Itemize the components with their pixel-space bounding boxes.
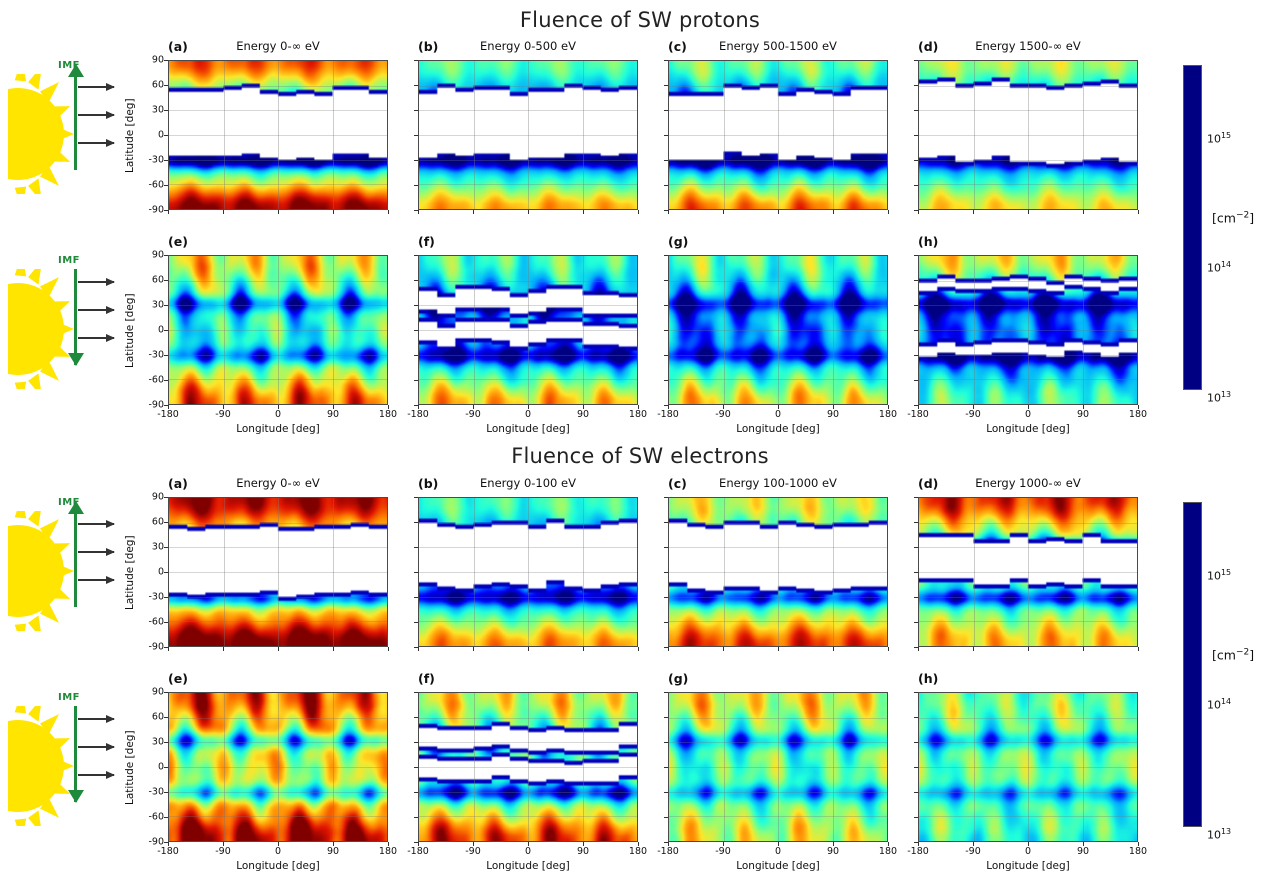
panel-title: Energy 0-500 eV [418,39,638,53]
axis-label-longitude: Longitude [deg] [668,423,888,435]
y-tick-mark [164,255,168,256]
y-tick-label: 30 [152,300,164,311]
gridline-horizontal [419,135,637,136]
plot-area [418,692,638,842]
y-tick-label: -60 [148,812,164,823]
x-tick-mark [668,210,669,214]
solar-wind-arrow-0 [78,523,114,525]
gridline-horizontal [919,330,1137,331]
y-tick-mark [664,817,668,818]
imf-arrow-up-icon [68,501,84,514]
y-tick-mark [414,185,418,186]
x-tick-label: -90 [715,846,731,857]
gridline-horizontal [169,160,387,161]
y-tick-mark [664,60,668,61]
gridline-horizontal [669,718,887,719]
solar-wind-arrow-0 [78,86,114,88]
x-tick-label: 0 [1025,846,1031,857]
x-tick-mark [973,210,974,214]
gridline-horizontal [669,110,887,111]
panel-electrons-g: (g)-180-90090180Longitude [deg] [668,692,888,842]
y-tick-mark [914,85,918,86]
y-tick-label: -60 [148,180,164,191]
axis-label-latitude: Latitude [deg] [124,730,136,805]
x-tick-label: 0 [275,409,281,420]
sun-imf-diagram-protons-row0: IMF [0,52,140,217]
y-tick-label: 30 [152,737,164,748]
imf-field-line [74,511,77,607]
y-tick-mark [414,767,418,768]
gridline-horizontal [919,718,1137,719]
gridline-horizontal [169,523,387,524]
gridline-horizontal [919,184,1137,185]
panel-tag: (g) [668,671,688,686]
y-tick-mark [414,717,418,718]
gridline-horizontal [669,742,887,743]
y-tick-mark [664,717,668,718]
y-tick-mark [914,717,918,718]
x-tick-mark [668,647,669,651]
y-tick-label: 90 [152,250,164,261]
x-tick-mark [1028,210,1029,214]
y-tick-mark [164,185,168,186]
panel-electrons-e: (e)9060300-30-60-90Latitude [deg]-180-90… [168,692,388,842]
solar-wind-arrow-1 [78,114,114,116]
y-tick-mark [414,547,418,548]
gridline-horizontal [419,281,637,282]
x-tick-mark [973,647,974,651]
gridline-horizontal [919,523,1137,524]
y-tick-mark [914,160,918,161]
gridline-horizontal [669,305,887,306]
y-tick-mark [164,522,168,523]
plot-area [418,255,638,405]
gridline-horizontal [419,742,637,743]
x-tick-label: 0 [775,409,781,420]
axis-label-latitude: Latitude [deg] [124,293,136,368]
gridline-horizontal [169,379,387,380]
y-tick-mark [664,280,668,281]
x-tick-label: 90 [1077,846,1089,857]
solar-wind-arrow-1 [78,309,114,311]
plot-area [918,255,1138,405]
y-tick-label: 60 [152,712,164,723]
x-tick-mark [333,647,334,651]
x-tick-label: 0 [525,409,531,420]
gridline-horizontal [169,597,387,598]
gridline-horizontal [669,572,887,573]
panel-tag: (g) [668,234,688,249]
gridline-horizontal [669,597,887,598]
x-tick-mark [888,647,889,651]
x-tick-mark [833,210,834,214]
solar-wind-arrow-0 [78,281,114,283]
plot-area [168,497,388,647]
panel-title: Energy 0-∞ eV [168,39,388,53]
plot-area [918,497,1138,647]
plot-area [168,255,388,405]
x-tick-mark [528,210,529,214]
x-tick-label: -180 [407,409,429,420]
imf-arrow-down-icon [68,353,84,366]
y-tick-mark [914,767,918,768]
x-tick-label: 90 [1077,409,1089,420]
x-tick-mark [1083,210,1084,214]
x-tick-mark [223,210,224,214]
gridline-horizontal [169,718,387,719]
y-tick-label: 30 [152,542,164,553]
y-tick-mark [164,330,168,331]
y-tick-label: 90 [152,55,164,66]
x-tick-label: 180 [1129,409,1147,420]
x-tick-label: 180 [379,409,397,420]
gridline-horizontal [669,816,887,817]
plot-area [168,60,388,210]
x-tick-mark [528,647,529,651]
y-tick-mark [914,255,918,256]
y-tick-mark [664,85,668,86]
y-tick-mark [914,547,918,548]
y-tick-mark [164,547,168,548]
gridline-horizontal [169,742,387,743]
gridline-horizontal [419,547,637,548]
plot-area [668,255,888,405]
panel-protons-f: (f)-180-90090180Longitude [deg] [418,255,638,405]
gridline-horizontal [419,816,637,817]
x-tick-mark [888,210,889,214]
y-tick-mark [914,692,918,693]
y-tick-mark [414,522,418,523]
y-tick-mark [664,497,668,498]
x-tick-mark [583,210,584,214]
panel-title: Energy 500-1500 eV [668,39,888,53]
panel-title: Energy 100-1000 eV [668,476,888,490]
y-tick-mark [664,355,668,356]
panel-protons-e: (e)9060300-30-60-90Latitude [deg]-180-90… [168,255,388,405]
gridline-horizontal [919,135,1137,136]
y-tick-label: 60 [152,80,164,91]
y-tick-label: -30 [148,350,164,361]
x-tick-mark [473,647,474,651]
x-tick-mark [388,210,389,214]
gridline-horizontal [919,281,1137,282]
y-tick-mark [164,160,168,161]
plot-area [418,60,638,210]
x-tick-label: 0 [275,846,281,857]
panel-protons-d: (d)Energy 1500-∞ eV [918,60,1138,210]
y-tick-mark [914,355,918,356]
sun-imf-diagram-protons-row1: IMF [0,247,140,412]
x-tick-mark [638,647,639,651]
x-tick-label: 0 [525,846,531,857]
y-tick-mark [164,692,168,693]
gridline-horizontal [919,572,1137,573]
imf-field-line [74,706,77,802]
y-tick-mark [164,355,168,356]
y-tick-mark [164,767,168,768]
x-tick-mark [333,210,334,214]
x-tick-label: -180 [657,846,679,857]
x-tick-mark [1138,647,1139,651]
x-tick-label: -180 [157,846,179,857]
y-tick-mark [164,380,168,381]
x-tick-mark [278,210,279,214]
figure-root: Fluence of SW protons Fluence of SW elec… [0,0,1280,874]
gridline-horizontal [169,281,387,282]
panel-title: Energy 0-100 eV [418,476,638,490]
gridline-horizontal [169,330,387,331]
panel-electrons-a: (a)Energy 0-∞ eV9060300-30-60-90Latitude… [168,497,388,647]
y-tick-label: -90 [148,205,164,216]
x-tick-mark [723,210,724,214]
x-tick-label: 90 [577,409,589,420]
panel-tag: (e) [168,234,188,249]
solar-wind-arrow-2 [78,774,114,776]
gridline-horizontal [669,547,887,548]
x-tick-mark [833,647,834,651]
gridline-horizontal [919,792,1137,793]
y-tick-mark [664,622,668,623]
plot-area [668,60,888,210]
panel-electrons-c: (c)Energy 100-1000 eV [668,497,888,647]
y-tick-mark [664,185,668,186]
y-tick-label: -60 [148,375,164,386]
gridline-horizontal [419,792,637,793]
x-tick-label: 180 [629,409,647,420]
panel-tag: (e) [168,671,188,686]
x-tick-mark [168,210,169,214]
gridline-horizontal [419,718,637,719]
x-tick-label: 90 [827,409,839,420]
y-tick-mark [664,255,668,256]
y-tick-label: -30 [148,787,164,798]
gridline-horizontal [419,572,637,573]
gridline-horizontal [669,281,887,282]
gridline-horizontal [419,597,637,598]
x-tick-label: -180 [657,409,679,420]
y-tick-mark [414,622,418,623]
x-tick-label: -90 [715,409,731,420]
axis-label-longitude: Longitude [deg] [418,860,638,872]
gridline-horizontal [169,816,387,817]
x-tick-mark [918,647,919,651]
gridline-horizontal [169,86,387,87]
imf-arrow-up-icon [68,64,84,77]
y-tick-mark [164,135,168,136]
y-tick-mark [414,355,418,356]
y-tick-mark [914,135,918,136]
gridline-horizontal [669,184,887,185]
solar-wind-arrow-0 [78,718,114,720]
imf-field-line [74,74,77,170]
y-tick-mark [914,280,918,281]
gridline-horizontal [669,355,887,356]
x-tick-mark [418,210,419,214]
gridline-horizontal [669,160,887,161]
x-tick-label: 90 [327,409,339,420]
panel-tag: (h) [918,671,938,686]
sun-imf-diagram-electrons-row0: IMF [0,489,140,654]
gridline-horizontal [419,110,637,111]
panel-protons-c: (c)Energy 500-1500 eV [668,60,888,210]
solar-wind-arrow-2 [78,337,114,339]
gridline-horizontal [419,621,637,622]
y-tick-mark [164,305,168,306]
y-tick-mark [664,792,668,793]
x-tick-label: 180 [879,846,897,857]
y-tick-mark [914,185,918,186]
y-tick-mark [414,255,418,256]
axis-label-latitude: Latitude [deg] [124,535,136,610]
y-tick-mark [414,305,418,306]
x-tick-mark [223,647,224,651]
x-tick-mark [638,210,639,214]
y-tick-mark [664,522,668,523]
x-tick-label: 90 [577,846,589,857]
y-tick-mark [414,692,418,693]
x-tick-label: 180 [379,846,397,857]
x-tick-mark [778,647,779,651]
y-tick-mark [664,305,668,306]
y-tick-mark [664,380,668,381]
solar-wind-arrow-2 [78,579,114,581]
x-tick-label: -90 [465,846,481,857]
panel-protons-h: (h)-180-90090180Longitude [deg] [918,255,1138,405]
y-tick-mark [914,622,918,623]
y-tick-mark [664,547,668,548]
plot-area [668,692,888,842]
y-tick-mark [164,792,168,793]
x-tick-mark [168,647,169,651]
gridline-horizontal [169,621,387,622]
gridline-horizontal [169,547,387,548]
colorbar-unit-label: [cm−2] [1212,210,1254,225]
x-tick-label: -90 [965,409,981,420]
gridline-horizontal [919,305,1137,306]
x-tick-mark [418,647,419,651]
gridline-horizontal [919,816,1137,817]
x-tick-label: 180 [879,409,897,420]
x-tick-label: -90 [215,846,231,857]
y-tick-mark [414,280,418,281]
gridline-horizontal [919,110,1137,111]
y-tick-mark [164,85,168,86]
panel-tag: (f) [418,671,435,686]
gridline-horizontal [419,184,637,185]
y-tick-mark [414,330,418,331]
gridline-horizontal [919,597,1137,598]
sun-icon [8,706,104,826]
gridline-horizontal [169,572,387,573]
gridline-horizontal [919,742,1137,743]
y-tick-mark [914,380,918,381]
gridline-horizontal [919,547,1137,548]
x-tick-label: 0 [775,846,781,857]
gridline-horizontal [919,86,1137,87]
y-tick-label: 60 [152,275,164,286]
y-tick-mark [914,597,918,598]
gridline-horizontal [669,767,887,768]
gridline-horizontal [669,523,887,524]
x-tick-label: -90 [965,846,981,857]
plot-area [418,497,638,647]
y-tick-mark [414,792,418,793]
sun-icon [8,511,104,631]
gridline-horizontal [419,767,637,768]
axis-label-longitude: Longitude [deg] [418,423,638,435]
y-tick-mark [914,522,918,523]
x-tick-mark [1083,647,1084,651]
x-tick-mark [388,647,389,651]
y-tick-label: 60 [152,517,164,528]
gridline-horizontal [919,355,1137,356]
panel-tag: (h) [918,234,938,249]
y-tick-mark [164,597,168,598]
solar-wind-arrow-2 [78,142,114,144]
imf-label: IMF [58,255,80,266]
gridline-horizontal [919,379,1137,380]
y-tick-mark [164,497,168,498]
y-tick-mark [664,572,668,573]
gridline-horizontal [169,135,387,136]
gridline-horizontal [419,379,637,380]
y-tick-mark [164,622,168,623]
x-tick-label: -180 [157,409,179,420]
y-tick-mark [664,135,668,136]
panel-title: Energy 1000-∞ eV [918,476,1138,490]
y-tick-mark [414,572,418,573]
gridline-horizontal [419,86,637,87]
panel-title: Energy 0-∞ eV [168,476,388,490]
gridline-horizontal [669,135,887,136]
y-tick-label: -30 [148,592,164,603]
gridline-horizontal [169,767,387,768]
y-tick-mark [164,572,168,573]
suptitle-protons: Fluence of SW protons [0,8,1280,32]
gridline-horizontal [919,767,1137,768]
y-tick-mark [164,60,168,61]
imf-arrow-down-icon [68,790,84,803]
panel-title: Energy 1500-∞ eV [918,39,1138,53]
sun-imf-diagram-electrons-row1: IMF [0,684,140,849]
y-tick-mark [414,110,418,111]
y-tick-label: 30 [152,105,164,116]
gridline-horizontal [169,110,387,111]
x-tick-mark [1028,647,1029,651]
gridline-horizontal [669,86,887,87]
gridline-horizontal [919,160,1137,161]
x-tick-label: 180 [1129,846,1147,857]
gridline-horizontal [419,305,637,306]
y-tick-label: 90 [152,492,164,503]
panel-protons-b: (b)Energy 0-500 eV [418,60,638,210]
x-tick-label: -180 [907,409,929,420]
y-tick-mark [664,692,668,693]
axis-label-longitude: Longitude [deg] [168,423,388,435]
axis-label-longitude: Longitude [deg] [668,860,888,872]
x-tick-label: 0 [1025,409,1031,420]
x-tick-mark [918,210,919,214]
y-tick-mark [914,792,918,793]
y-tick-mark [914,742,918,743]
y-tick-mark [414,597,418,598]
panel-protons-a: (a)Energy 0-∞ eV9060300-30-60-90Latitude… [168,60,388,210]
x-tick-mark [778,210,779,214]
suptitle-electrons: Fluence of SW electrons [0,444,1280,468]
imf-label: IMF [58,692,80,703]
gridline-horizontal [669,792,887,793]
y-tick-mark [414,85,418,86]
